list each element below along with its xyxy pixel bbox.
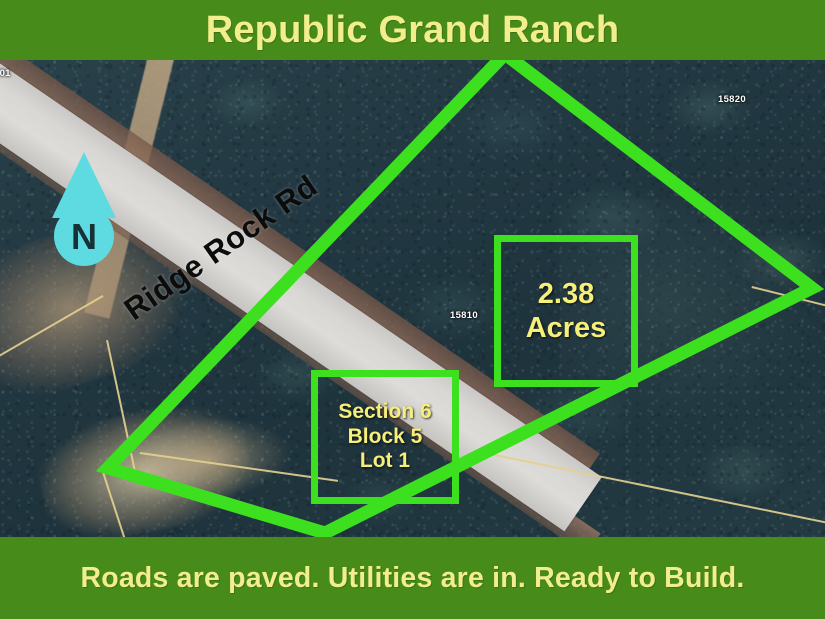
lot-identifier-callout: Section 6 Block 5 Lot 1 — [311, 370, 459, 504]
tagline-text: Roads are paved. Utilities are in. Ready… — [80, 562, 744, 595]
map-address-label-mid: 15810 — [450, 310, 478, 321]
top-banner: Republic Grand Ranch — [0, 0, 825, 60]
lot-section-label: Section 6 — [338, 400, 431, 425]
map-address-label-ne: 15820 — [718, 94, 746, 105]
lot-number-label: Lot 1 — [360, 449, 410, 474]
page-title: Republic Grand Ranch — [206, 9, 620, 52]
map-address-label-nw: 801 — [0, 68, 11, 79]
north-arrow-icon: N — [38, 148, 130, 266]
compass-north-letter: N — [71, 216, 97, 257]
acreage-value: 2.38 — [538, 277, 594, 311]
aerial-map[interactable]: 801 15820 15810 Ridge Rock Rd N 2.38 Acr… — [0, 60, 825, 537]
acreage-unit: Acres — [526, 311, 607, 345]
acreage-callout: 2.38 Acres — [494, 235, 638, 387]
listing-flyer-image: Republic Grand Ranch 801 15820 15810 Rid… — [0, 0, 825, 619]
lot-block-label: Block 5 — [348, 425, 423, 450]
bottom-banner: Roads are paved. Utilities are in. Ready… — [0, 537, 825, 619]
